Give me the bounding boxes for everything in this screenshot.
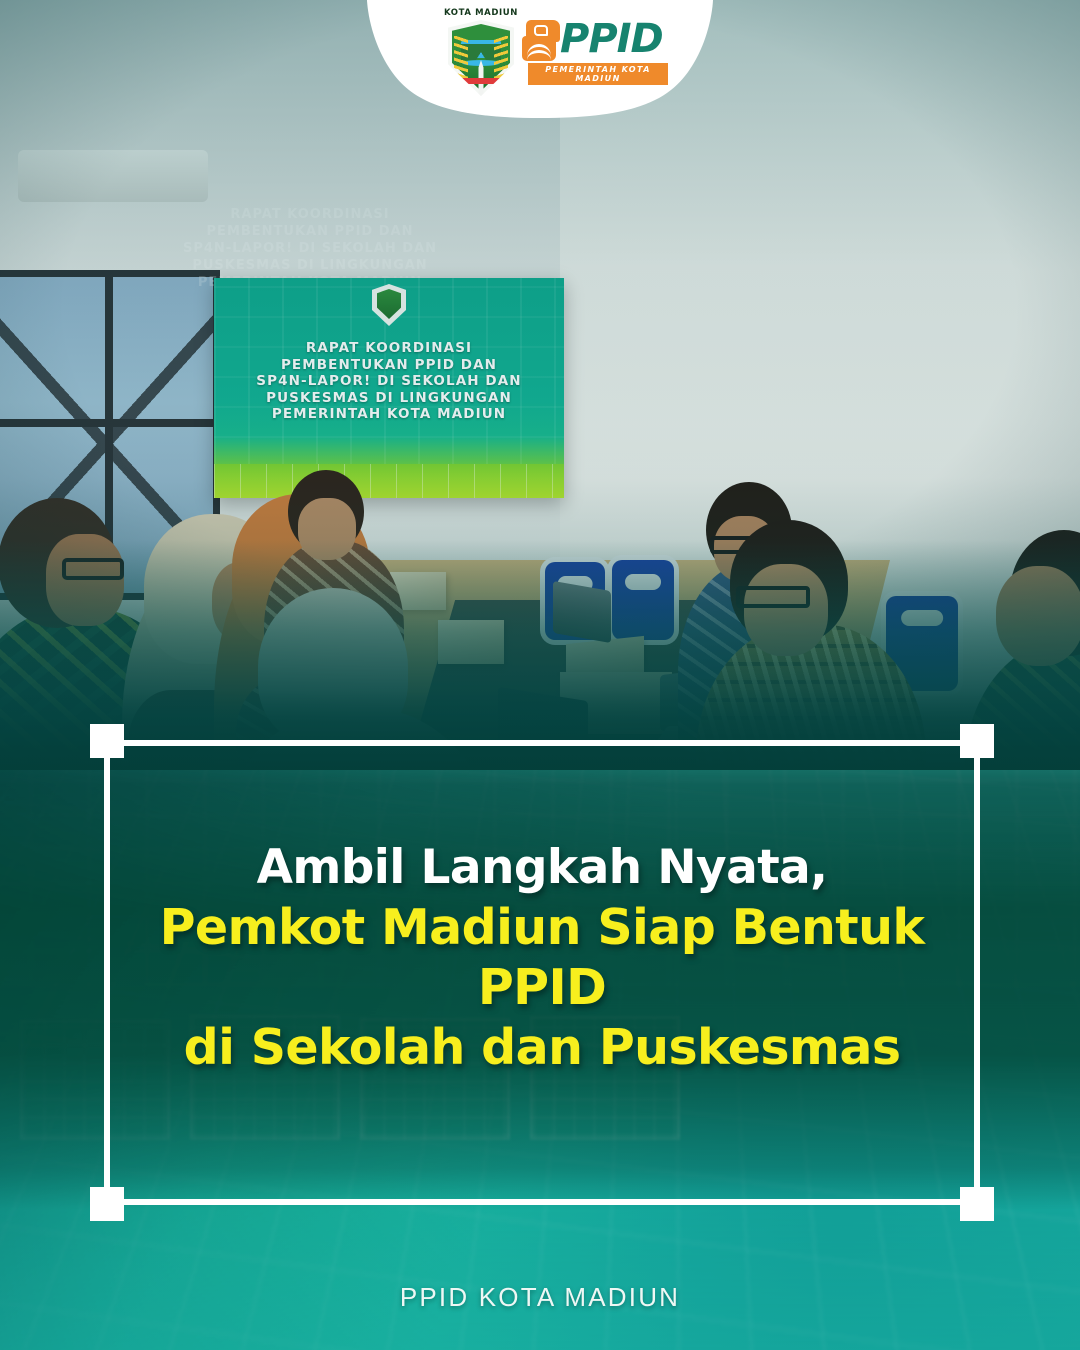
frame-corner-bottom-right	[960, 1187, 994, 1221]
frame-corner-bottom-left	[90, 1187, 124, 1221]
kota-madiun-crest-icon: KOTA MADIUN	[440, 8, 522, 100]
headline-line-1: Ambil Langkah Nyata,	[104, 838, 980, 898]
ppid-wordmark: PPID	[560, 16, 663, 62]
frame-corner-top-right	[960, 724, 994, 758]
frame-corner-top-left	[90, 724, 124, 758]
ppid-tagline: PEMERINTAH KOTA MADIUN	[528, 63, 668, 85]
footer-caption: PPID KOTA MADIUN	[0, 1282, 1080, 1313]
crest-label: KOTA MADIUN	[440, 8, 522, 18]
headline-line-2: Pemkot Madiun Siap Bentuk PPID	[104, 898, 980, 1018]
poster: RAPAT KOORDINASI PEMBENTUKAN PPID DAN SP…	[0, 0, 1080, 1350]
ppid-logo: PPID PEMERINTAH KOTA MADIUN	[522, 18, 670, 80]
headline-line-3: di Sekolah dan Puskesmas	[104, 1018, 980, 1078]
headline: Ambil Langkah Nyata, Pemkot Madiun Siap …	[104, 838, 980, 1078]
